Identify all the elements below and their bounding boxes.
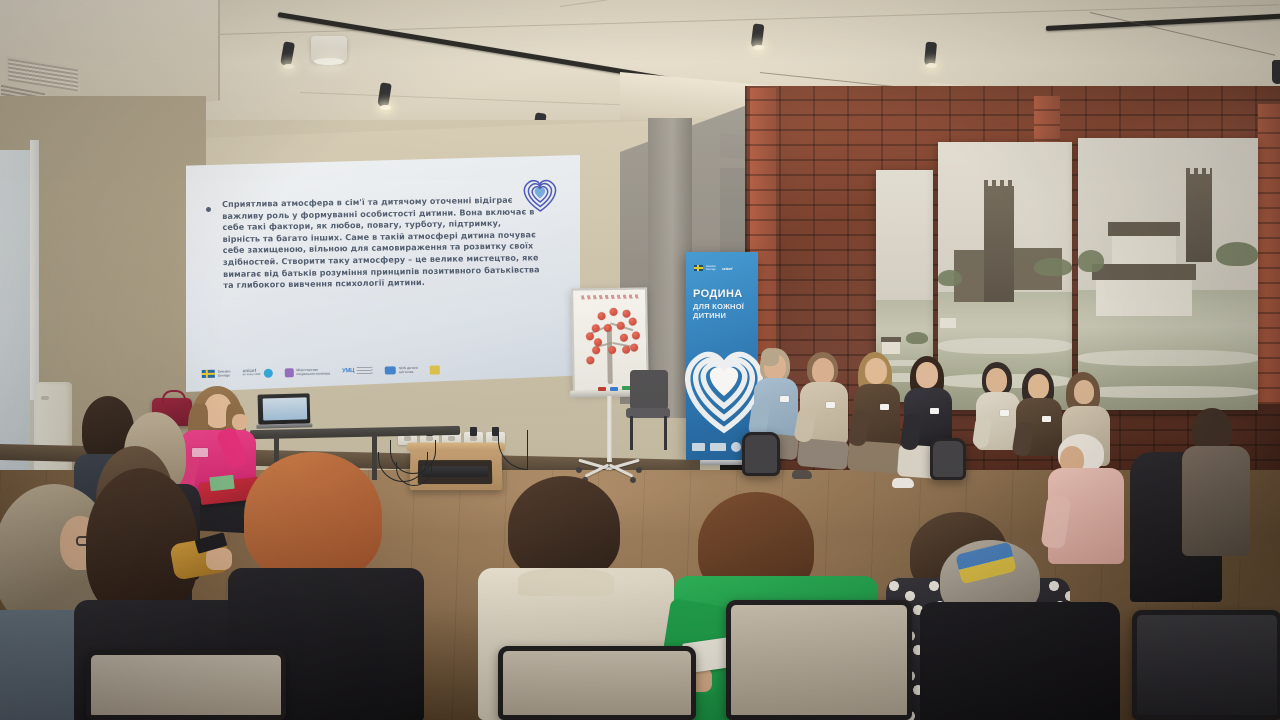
- flipchart-apple: [622, 346, 630, 354]
- torso: [920, 602, 1120, 720]
- painting-house: [882, 341, 900, 354]
- sos-emblem-icon: [385, 366, 396, 374]
- unicef-caption: unicef for every child: [243, 369, 261, 377]
- sweden-logo-caption: Sweden Sverige: [706, 265, 716, 271]
- brick-pier: [1258, 104, 1280, 404]
- painting-tree: [1216, 242, 1258, 266]
- name-badge: [780, 396, 789, 402]
- painting-path: [938, 338, 1072, 354]
- flipchart-marker: [598, 387, 606, 391]
- head: [812, 358, 834, 384]
- umts-logo: УМЦ: [342, 367, 373, 376]
- flipchart-marker: [610, 387, 618, 391]
- painting-roof: [881, 337, 901, 342]
- painting-fortress-tower: [984, 186, 1014, 302]
- shoe: [892, 478, 914, 488]
- audience-chair-center: [498, 646, 696, 720]
- audience-chair-far-right: [1132, 610, 1280, 720]
- chair-backrest: [630, 370, 668, 410]
- banner-subtitle-line1: ДЛЯ КОЖНОЇ: [693, 302, 757, 311]
- unicef-logo: unicef for every child: [243, 368, 273, 378]
- sweden-flag-icon: [694, 265, 703, 271]
- rollup-banner: Sweden Sverige unicef РОДИНА ДЛЯ КОЖНОЇ …: [686, 252, 758, 460]
- flipchart-apple: [592, 346, 600, 354]
- spotlight: [1272, 60, 1280, 84]
- painting-house: [1096, 278, 1192, 316]
- slide-bullet-marker: [206, 207, 211, 212]
- chair-backrest: [742, 432, 780, 476]
- sweden-logo-caption: Sweden Sverige: [218, 369, 231, 377]
- hoodie-print: [192, 448, 208, 457]
- concentric-heart-logo: [518, 173, 563, 216]
- banner-subtitle: ДЛЯ КОЖНОЇ ДИТИНИ: [693, 302, 757, 320]
- painting-tree: [1034, 258, 1072, 276]
- ministry-logo: [710, 443, 726, 451]
- unicef-globe-icon: [263, 368, 272, 377]
- spotlight-glow: [380, 105, 391, 110]
- coat-collar: [518, 568, 614, 596]
- name-badge: [1000, 410, 1009, 416]
- power-plug: [470, 427, 477, 436]
- umts-logo: [692, 443, 705, 451]
- head: [986, 368, 1007, 393]
- head: [916, 362, 938, 388]
- flipchart-base: [578, 455, 642, 477]
- presenter-laptop[interactable]: [256, 393, 313, 428]
- hair: [508, 476, 620, 580]
- chair-leg: [630, 416, 633, 450]
- painting-fortress-tower: [1186, 174, 1212, 262]
- flipchart-tree-trunk: [607, 326, 613, 384]
- sweden-sverige-logo: Sweden Sverige: [202, 369, 231, 378]
- name-badge: [880, 404, 889, 410]
- flipchart-apple: [604, 324, 612, 332]
- flipchart-apple: [598, 312, 606, 320]
- partner-logo-6: [430, 365, 440, 374]
- flipchart-apple: [629, 318, 637, 326]
- hand: [232, 414, 248, 430]
- flipchart-apple: [594, 338, 602, 346]
- torso: [1182, 446, 1250, 556]
- spotlight-glow: [283, 64, 294, 69]
- laptop-screen-content: [263, 397, 308, 420]
- leg: [797, 438, 849, 470]
- projected-slide: Сприятлива атмосфера в сім'ї та дитячому…: [186, 155, 580, 392]
- unicef-wordmark: unicef: [722, 266, 732, 271]
- chair-leg: [664, 416, 667, 450]
- chair-backrest: [1132, 610, 1280, 720]
- hair-front: [761, 348, 779, 366]
- flipchart-pole: [607, 396, 612, 462]
- shoe: [792, 470, 812, 479]
- chair-backrest: [498, 646, 696, 720]
- name-badge: [1042, 416, 1051, 422]
- name-badge: [930, 408, 939, 414]
- flipchart-apple: [586, 332, 594, 340]
- head: [865, 358, 887, 384]
- painting-tree: [906, 332, 928, 344]
- audience-chair-left: [86, 650, 286, 720]
- slide-body-text: Сприятлива атмосфера в сім'ї та дитячому…: [222, 194, 541, 291]
- painting-tree: [1078, 250, 1104, 272]
- umts-caption-lines-icon: [357, 367, 373, 375]
- partner-emblem-icon: [430, 365, 440, 374]
- unicef-logo: unicef: [722, 266, 732, 271]
- drum-pendant-light: [311, 36, 347, 62]
- flipchart-apple: [630, 344, 638, 352]
- banner-subtitle-line2: ДИТИНИ: [693, 311, 757, 320]
- chair-backrest: [930, 438, 966, 480]
- flipchart-apple: [608, 346, 616, 354]
- flipchart-apple: [632, 331, 640, 339]
- chair-backrest: [86, 650, 286, 720]
- painting-house: [940, 318, 956, 328]
- spotlight-glow: [753, 45, 764, 50]
- audience-chair-right: [726, 600, 912, 720]
- partner-logo: [731, 442, 741, 452]
- sos-caption: SOS дитячі містечка: [399, 366, 418, 374]
- seminar-room-photo: Сприятлива атмосфера в сім'ї та дитячому…: [0, 0, 1280, 720]
- painting-roof: [1092, 264, 1196, 280]
- side-chair: [626, 370, 670, 450]
- painting-roof: [1108, 222, 1180, 236]
- flipchart-apple: [586, 356, 594, 364]
- hand: [206, 548, 232, 570]
- chair-backrest: [726, 600, 912, 720]
- sweden-flag-icon: [202, 370, 215, 378]
- sweden-sverige-logo: Sweden Sverige: [694, 265, 716, 271]
- painting-path: [1078, 386, 1258, 398]
- spotlight-glow: [926, 63, 937, 68]
- ukraine-ministry-logo: Міністерство соціальної політики: [284, 367, 330, 377]
- painting-sky: [876, 170, 933, 305]
- flipchart-apple: [609, 308, 617, 316]
- ministry-emblem-icon: [284, 368, 293, 377]
- painting-path: [1078, 350, 1258, 366]
- ministry-caption: Міністерство соціальної політики: [296, 368, 330, 377]
- flipchart-caster: [630, 477, 636, 483]
- banner-title: РОДИНА: [693, 288, 755, 300]
- projection-screen: Сприятлива атмосфера в сім'ї та дитячому…: [186, 155, 580, 392]
- flipchart-title-scribble: [581, 294, 639, 299]
- head: [1028, 374, 1049, 399]
- name-badge: [826, 402, 835, 408]
- flipchart-apple: [622, 310, 630, 318]
- flipchart-caster: [636, 467, 642, 473]
- presenter-notes-paper: [209, 475, 234, 491]
- flipchart-apple: [620, 334, 628, 342]
- painting-tree: [938, 270, 962, 286]
- banner-top-logos: Sweden Sverige unicef: [694, 262, 752, 274]
- flipchart-caster: [576, 467, 582, 473]
- laptop-screen: [258, 393, 311, 424]
- head: [1074, 380, 1094, 404]
- sos-children-villages-logo: SOS дитячі містечка: [385, 366, 418, 375]
- table-leg: [372, 432, 377, 480]
- painting-panel-right: [1078, 138, 1258, 410]
- hair: [244, 452, 382, 580]
- umts-wordmark: УМЦ: [342, 368, 354, 374]
- banner-base-foot: [700, 460, 744, 465]
